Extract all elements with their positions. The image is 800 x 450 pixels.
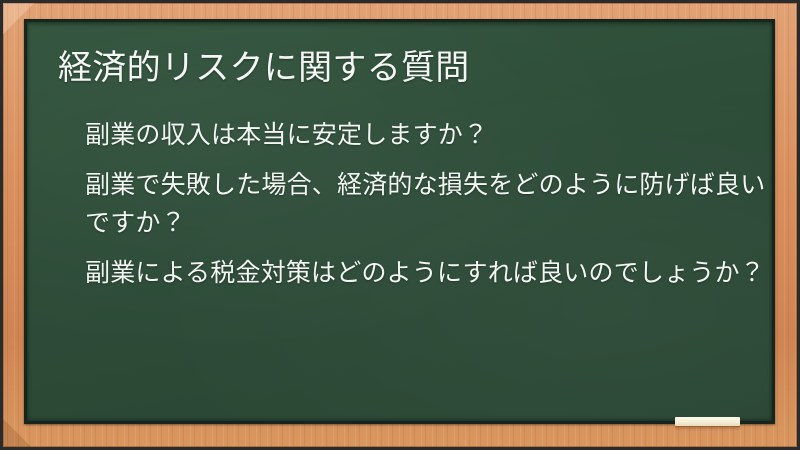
page-title: 経済的リスクに関する質問 [58, 46, 758, 90]
list-item: 副業による税金対策はどのようにすれば良いのでしょうか？ [85, 254, 772, 292]
chalk-shadow [675, 426, 740, 429]
chalk-stick-icon [675, 417, 740, 426]
question-list: 副業の収入は本当に安定しますか？ 副業で失敗した場合、経済的な損失をどのように防… [85, 116, 772, 292]
list-item: 副業の収入は本当に安定しますか？ [85, 116, 772, 154]
chalkboard-surface: 経済的リスクに関する質問 副業の収入は本当に安定しますか？ 副業で失敗した場合、… [27, 22, 772, 421]
slide-canvas: 経済的リスクに関する質問 副業の収入は本当に安定しますか？ 副業で失敗した場合、… [0, 0, 800, 450]
list-item: 副業で失敗した場合、経済的な損失をどのように防げば良いですか？ [85, 166, 772, 242]
